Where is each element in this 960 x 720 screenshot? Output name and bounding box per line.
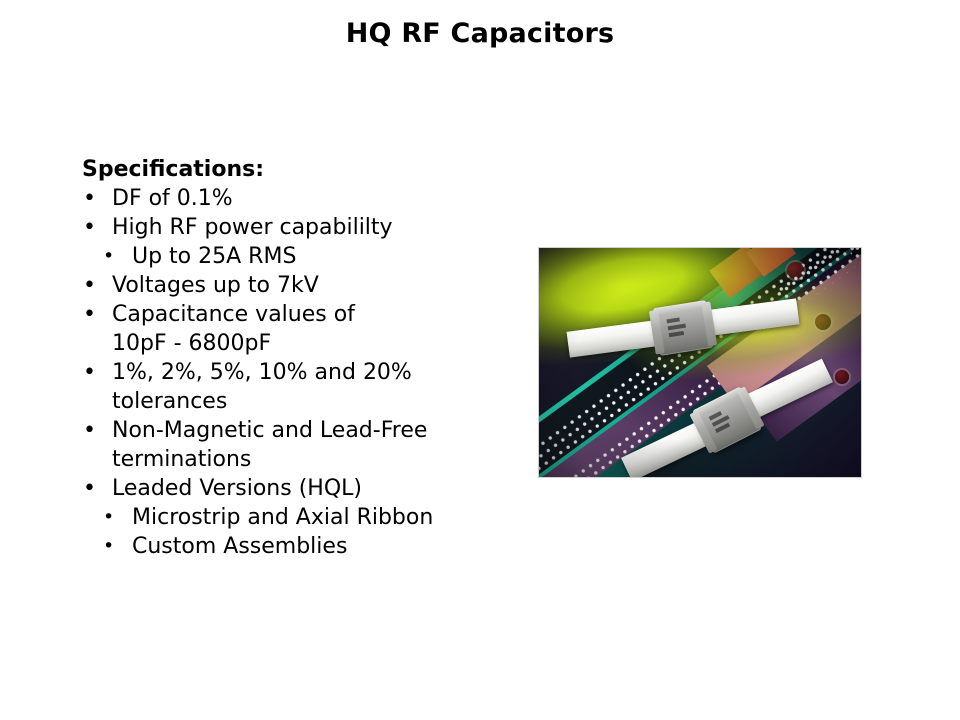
bullet-icon: • (103, 503, 114, 532)
list-item-label: High RF power capabililty (112, 213, 512, 242)
list-item: • Leaded Versions (HQL) (82, 474, 512, 503)
list-item: • Voltages up to 7kV (82, 271, 512, 300)
bullet-icon: • (83, 358, 96, 387)
list-item: • Up to 25A RMS (102, 242, 512, 271)
specifications-heading: Specifications: (82, 155, 512, 184)
product-photo (538, 247, 862, 478)
list-item-label: Up to 25A RMS (132, 244, 296, 269)
list-item: • DF of 0.1% (82, 184, 512, 213)
bullet-icon: • (103, 242, 114, 271)
list-item: • Non-Magnetic and Lead-Free termination… (82, 416, 512, 474)
list-item-label-continued: tolerances (112, 389, 227, 414)
list-item-label: Capacitance values of (112, 300, 512, 329)
list-item-label: DF of 0.1% (112, 184, 512, 213)
list-item-label: Microstrip and Axial Ribbon (132, 505, 433, 530)
bullet-icon: • (103, 532, 114, 561)
list-item-label: Custom Assemblies (132, 534, 347, 559)
list-item-label: Voltages up to 7kV (112, 271, 512, 300)
bullet-icon: • (83, 271, 96, 300)
specifications-block: Specifications: • DF of 0.1% • High RF p… (82, 155, 512, 561)
list-item-label: Leaded Versions (HQL) (112, 474, 512, 503)
list-item: • High RF power capabililty (82, 213, 512, 242)
bullet-icon: • (83, 300, 96, 329)
specifications-list: • DF of 0.1% • High RF power capabililty… (82, 184, 512, 561)
list-item: • Custom Assemblies (102, 532, 512, 561)
list-item-label-continued: 10pF - 6800pF (112, 331, 271, 356)
list-item: • 1%, 2%, 5%, 10% and 20% tolerances (82, 358, 512, 416)
page-title: HQ RF Capacitors (0, 17, 960, 50)
bullet-icon: • (83, 416, 96, 445)
bullet-icon: • (83, 213, 96, 242)
photo-vignette (539, 248, 861, 477)
list-item-label: 1%, 2%, 5%, 10% and 20% (112, 358, 512, 387)
list-item-label: Non-Magnetic and Lead-Free (112, 416, 512, 445)
bullet-icon: • (83, 474, 96, 503)
list-item: • Microstrip and Axial Ribbon (102, 503, 512, 532)
list-item: • Capacitance values of 10pF - 6800pF (82, 300, 512, 358)
list-item-label-continued: terminations (112, 447, 251, 472)
bullet-icon: • (83, 184, 96, 213)
product-photo-canvas (539, 248, 861, 477)
